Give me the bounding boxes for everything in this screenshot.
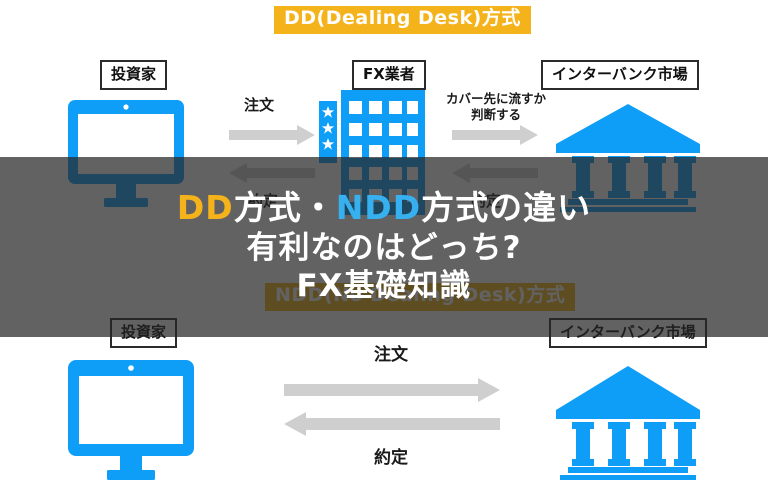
top-role-label-interbank-market: インターバンク市場 xyxy=(541,60,699,90)
cover-decision-line1: カバー先に流すか xyxy=(446,91,546,106)
headline-line-2: 有利なのはどっち? xyxy=(247,230,522,267)
bottom-order-label: 注文 xyxy=(374,345,408,366)
top-role-label-fx-broker: FX業者 xyxy=(352,60,426,90)
bank-icon xyxy=(554,362,702,482)
overlay-headline: DD方式・NDD方式の違い 有利なのはどっち? FX基礎知識 xyxy=(0,157,768,337)
headline-line-3: FX基礎知識 xyxy=(296,268,471,305)
monitor-icon xyxy=(66,358,196,488)
top-arrow-order-right xyxy=(229,125,315,145)
bottom-fill-label: 約定 xyxy=(374,448,408,469)
bottom-arrow-order-right xyxy=(284,378,500,402)
headline-ndd-term: NDD xyxy=(336,188,421,227)
top-arrow-cover-right xyxy=(452,125,538,145)
headline-dd-term: DD xyxy=(177,188,234,227)
dd-method-banner: DD(Dealing Desk)方式 xyxy=(274,6,531,34)
headline-line1-tail: 方式の違い xyxy=(421,188,591,227)
cover-decision-line2: 判断する xyxy=(471,107,521,122)
top-cover-decision-note: カバー先に流すか 判断する xyxy=(437,91,555,122)
top-order-label-left: 注文 xyxy=(244,96,274,115)
top-role-label-investor: 投資家 xyxy=(100,60,167,90)
bottom-arrow-fill-left xyxy=(284,412,500,436)
flag-stars-icon xyxy=(319,101,337,163)
infographic-canvas: DD(Dealing Desk)方式 投資家 FX業者 インターバンク市場 xyxy=(0,0,768,500)
headline-line1-mid: 方式・ xyxy=(234,188,336,227)
headline-line-1: DD方式・NDD方式の違い xyxy=(177,189,591,228)
